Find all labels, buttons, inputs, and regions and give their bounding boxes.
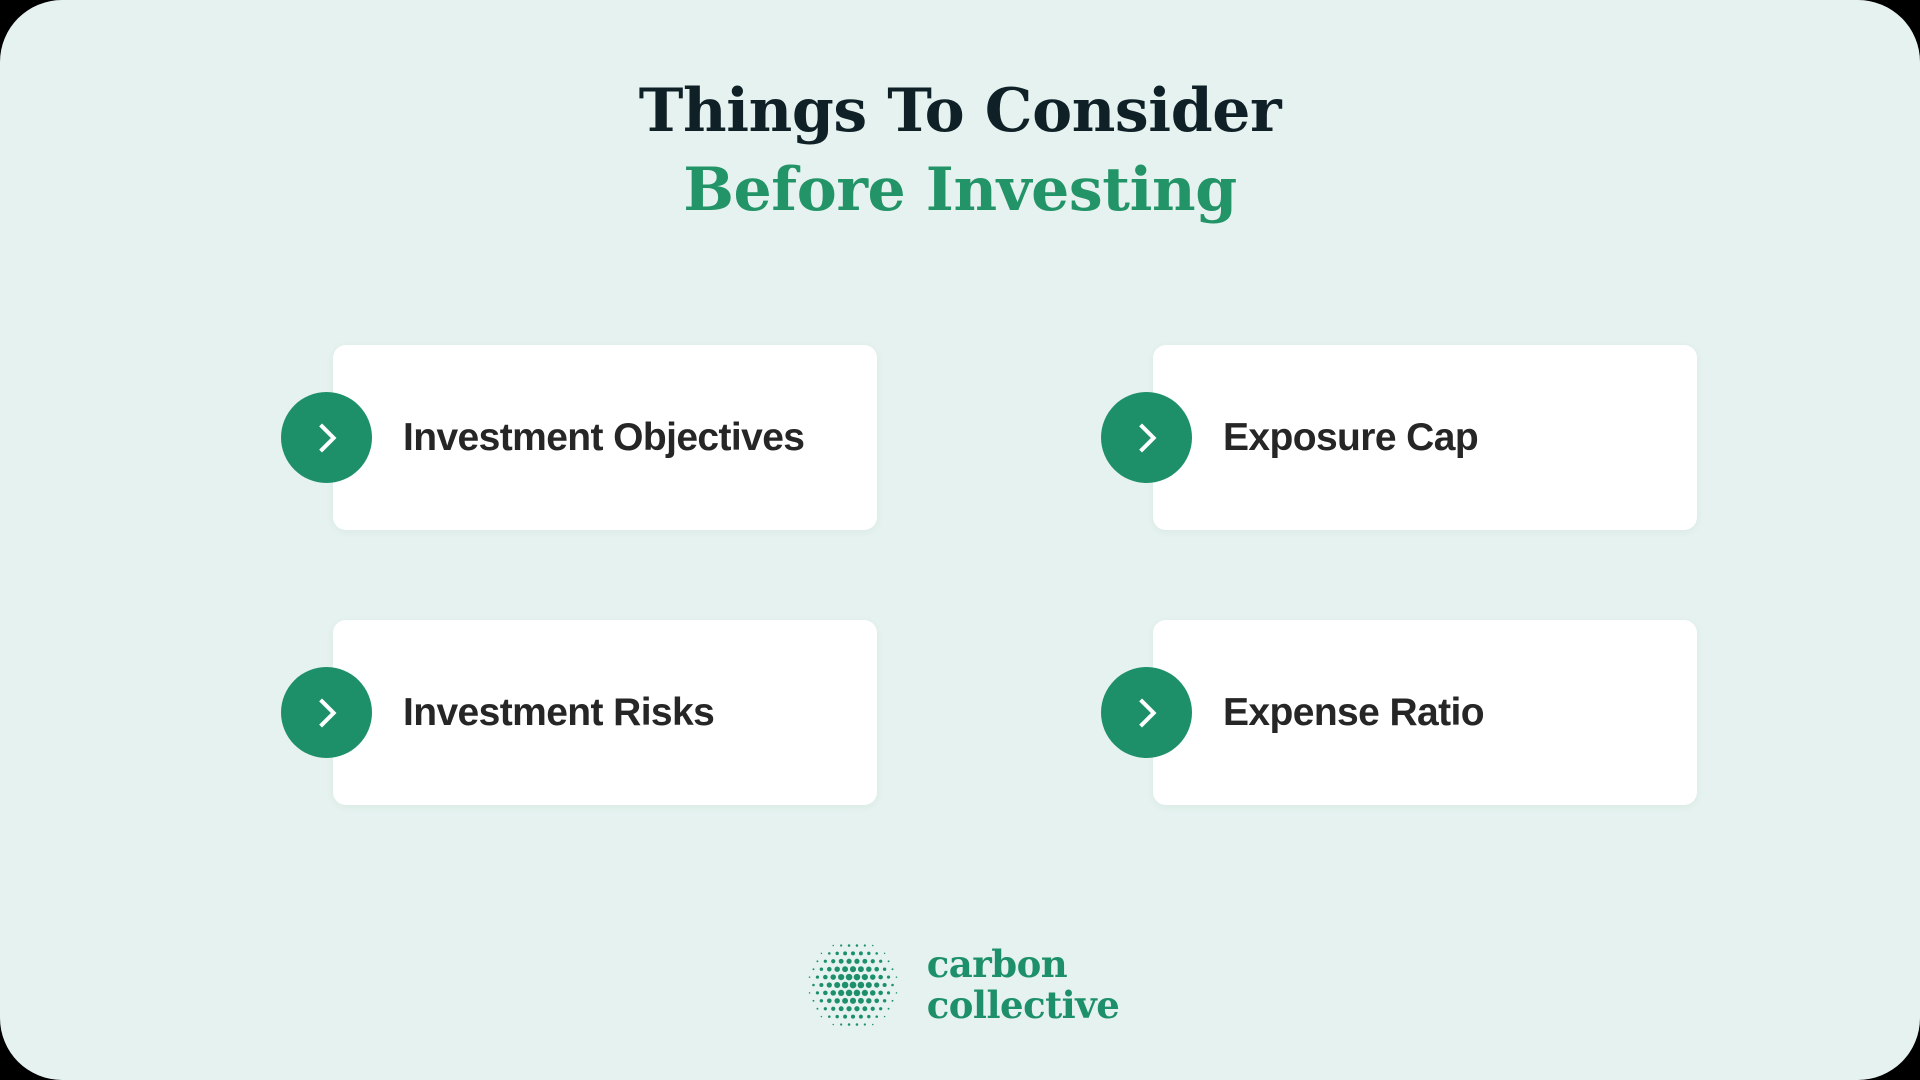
chevron-right-icon[interactable]: [1101, 392, 1192, 483]
brand-logo: carbon collective: [0, 925, 1920, 1045]
card-label: Expense Ratio: [1223, 620, 1484, 805]
halftone-dot-circle-icon: [801, 933, 905, 1037]
brand-word-collective: collective: [927, 987, 1120, 1024]
consideration-card[interactable]: Investment Objectives: [281, 345, 877, 530]
consideration-card[interactable]: Expense Ratio: [1101, 620, 1697, 805]
consideration-card[interactable]: Investment Risks: [281, 620, 877, 805]
title-line-primary: Things To Consider: [0, 72, 1920, 151]
chevron-right-icon[interactable]: [281, 667, 372, 758]
brand-word-carbon: carbon: [927, 946, 1120, 983]
brand-wordmark: carbon collective: [927, 946, 1120, 1024]
page-title: Things To Consider Before Investing: [0, 72, 1920, 230]
card-label: Investment Objectives: [403, 345, 804, 530]
consideration-card[interactable]: Exposure Cap: [1101, 345, 1697, 530]
chevron-right-icon[interactable]: [281, 392, 372, 483]
card-label: Exposure Cap: [1223, 345, 1478, 530]
infographic-page: Things To Consider Before Investing Inve…: [0, 0, 1920, 1080]
consideration-card-grid: Investment Objectives Exposure Cap Inves…: [0, 345, 1920, 805]
title-line-secondary: Before Investing: [0, 151, 1920, 230]
card-label: Investment Risks: [403, 620, 714, 805]
chevron-right-icon[interactable]: [1101, 667, 1192, 758]
